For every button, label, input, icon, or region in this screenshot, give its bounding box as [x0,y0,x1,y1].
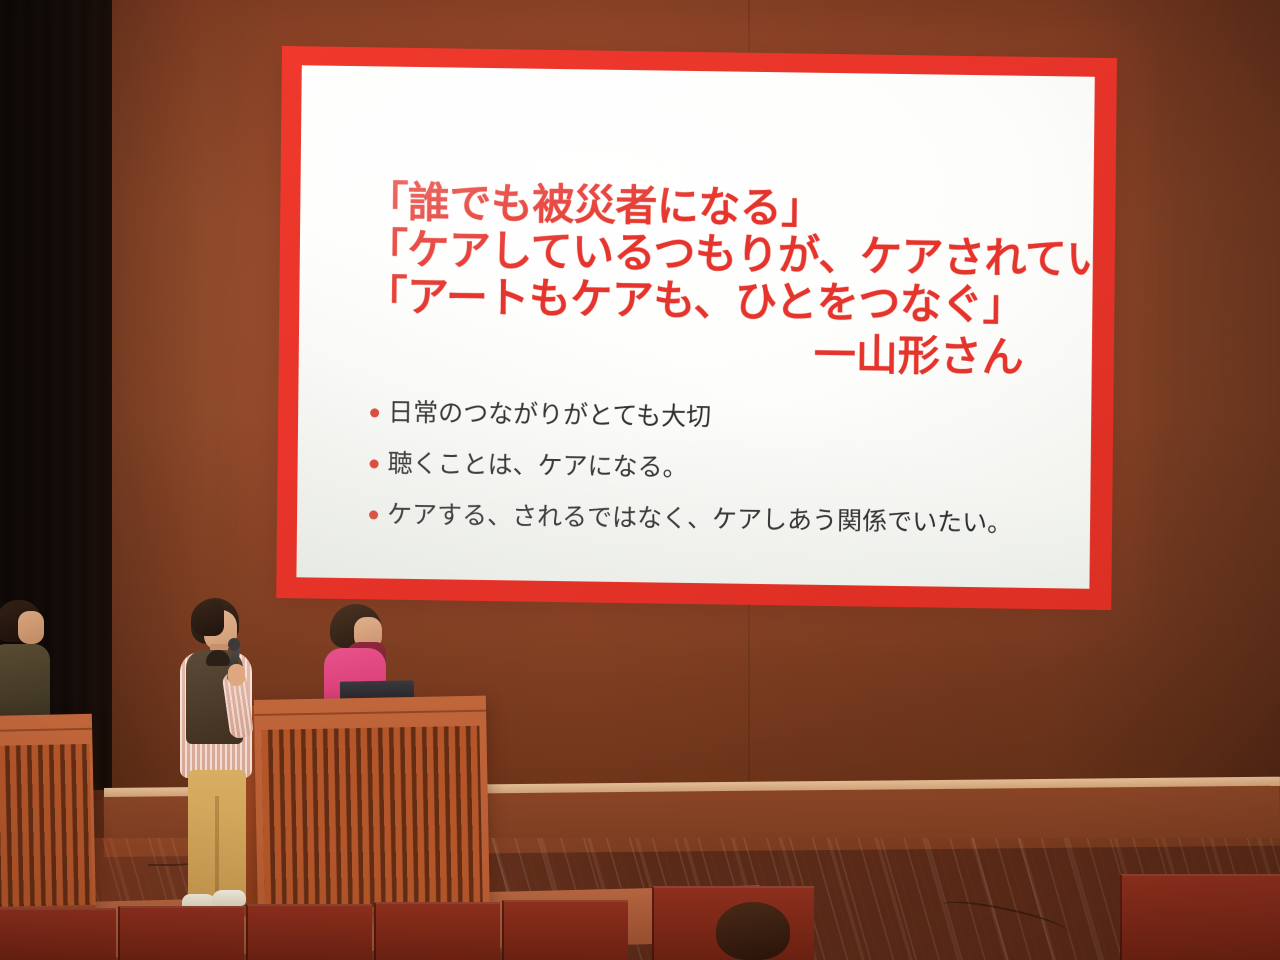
screen-projection-surface: 「誰でも被災者になる」 「ケアしているつもりが、ケアされている」 「アートもケア… [296,65,1094,588]
slide-attribution: 一山形さん [365,323,1067,384]
audience-seat-back [374,902,500,960]
podium-surface [254,696,486,716]
bullet-text: ケアする、されるではなく、ケアしあう関係でいたい。 [387,500,1012,540]
face [18,611,44,644]
slide-headline: 「誰でも被災者になる」 「ケアしているつもりが、ケアされている」 「アートもケア… [365,178,1067,329]
list-item: 日常のつながりがとても大切 [370,398,1065,439]
trousers [188,770,246,898]
bullet-dot-icon [370,460,379,469]
audience-seat-back [1120,874,1280,960]
presentation-stage-photo: 「誰でも被災者になる」 「ケアしているつもりが、ケアされている」 「アートもケア… [0,0,1280,960]
audience-seat-back [0,908,116,960]
screen-red-frame: 「誰でも被災者になる」 「ケアしているつもりが、ケアされている」 「アートもケア… [276,46,1117,610]
bullet-text: 日常のつながりがとても大切 [388,398,711,434]
torso [0,644,50,720]
slide-content: 「誰でも被災者になる」 「ケアしているつもりが、ケアされている」 「アートもケア… [296,65,1094,588]
list-item: ケアする、されるではなく、ケアしあう関係でいたい。 [369,500,1064,541]
headline-line-3: 「アートもケアも、ひとをつなぐ」 [365,272,1066,329]
standing-speaker [170,598,266,918]
shoe-right [212,890,246,906]
podium-surface [0,714,92,732]
projection-screen[interactable]: 「誰でも被災者になる」 「ケアしているつもりが、ケアされている」 「アートもケア… [276,46,1280,632]
panelist-far-left [0,600,56,720]
hand [228,664,245,686]
audience-head [716,902,790,960]
audience-seat-back [246,904,372,960]
list-item: 聴くことは、ケアになる。 [369,449,1064,490]
podium-slats [261,726,483,910]
hair-front [191,600,224,636]
podium-slats [0,744,93,908]
podium-left [0,714,96,916]
bullet-dot-icon [370,409,379,418]
audience-seat-back [502,900,628,960]
slide-bullet-list: 日常のつながりがとても大切 聴くことは、ケアになる。 ケアする、されるではなく、… [363,398,1065,541]
bullet-text: 聴くことは、ケアになる。 [387,449,687,484]
audience-seat-back [118,906,244,960]
microphone-head-icon [228,638,240,651]
bullet-dot-icon [369,511,378,520]
podium-center [254,696,490,918]
